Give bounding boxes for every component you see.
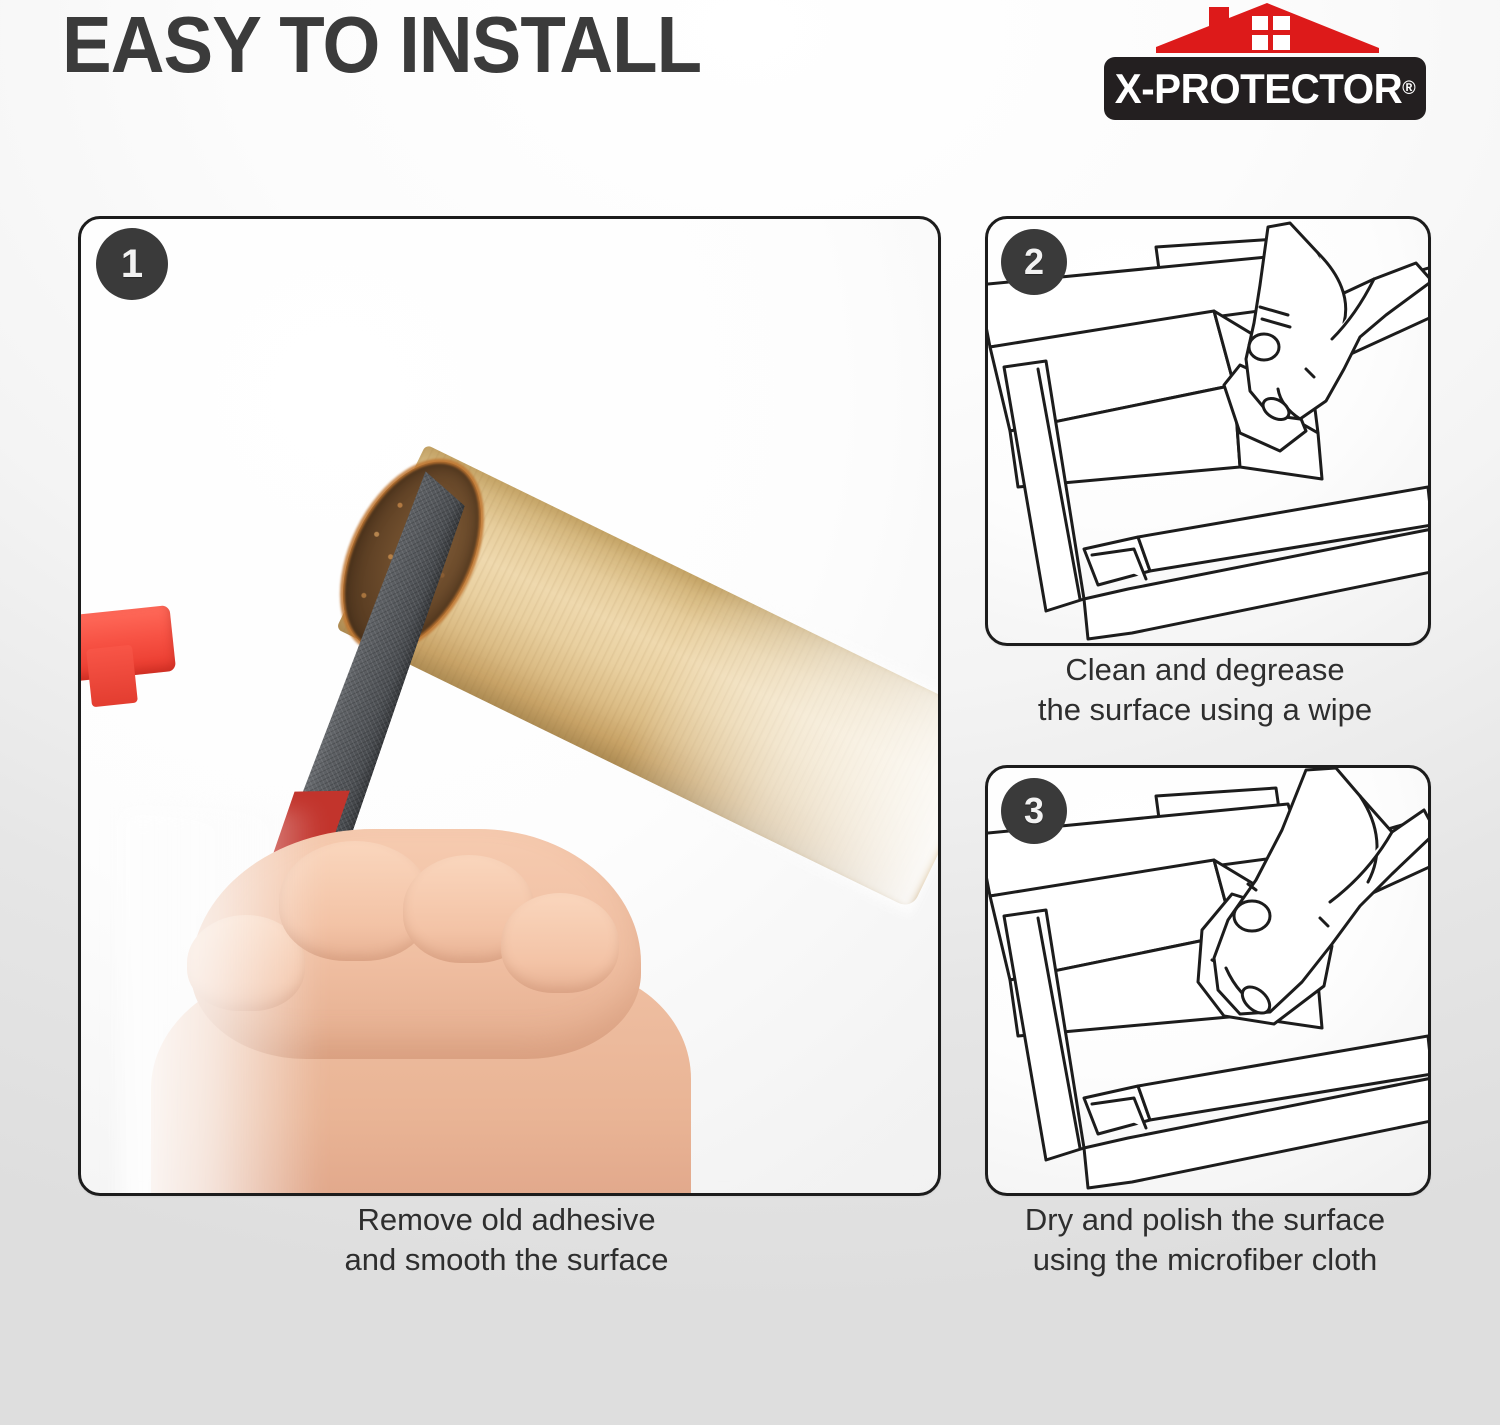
step-1-number-badge: 1 <box>96 228 168 300</box>
step-2-caption: Clean and degrease the surface using a w… <box>985 650 1425 730</box>
motion-blur-left <box>121 809 321 1196</box>
logo-wordmark-text: X-PROTECTOR <box>1115 65 1402 113</box>
step-1-panel <box>78 216 941 1196</box>
hand-gripping-tool <box>151 819 711 1196</box>
file-handle-tab <box>86 645 138 707</box>
step-3-caption-line-1: Dry and polish the surface <box>985 1200 1425 1240</box>
registered-trademark-mark: ® <box>1402 79 1415 98</box>
infographic-page: EASY TO INSTALL X-PROTECTOR® <box>0 0 1500 1425</box>
step-1-caption-line-1: Remove old adhesive <box>78 1200 935 1240</box>
page-title: EASY TO INSTALL <box>62 2 701 88</box>
step-2-caption-line-1: Clean and degrease <box>985 650 1425 690</box>
house-roof-icon <box>1155 2 1380 54</box>
step-1-caption: Remove old adhesive and smooth the surfa… <box>78 1200 935 1280</box>
step-3-caption: Dry and polish the surface using the mic… <box>985 1200 1425 1280</box>
step-2-caption-line-2: the surface using a wipe <box>985 690 1425 730</box>
step-1-photo <box>81 219 938 1193</box>
brand-logo: X-PROTECTOR® <box>1100 2 1430 124</box>
step-1-caption-line-2: and smooth the surface <box>78 1240 935 1280</box>
knuckle <box>501 893 619 993</box>
logo-wordmark: X-PROTECTOR® <box>1110 57 1419 120</box>
step-3-caption-line-2: using the microfiber cloth <box>985 1240 1425 1280</box>
step-2-number-badge: 2 <box>1001 229 1067 295</box>
logo-plate: X-PROTECTOR® <box>1104 57 1426 120</box>
step-3-number-badge: 3 <box>1001 778 1067 844</box>
